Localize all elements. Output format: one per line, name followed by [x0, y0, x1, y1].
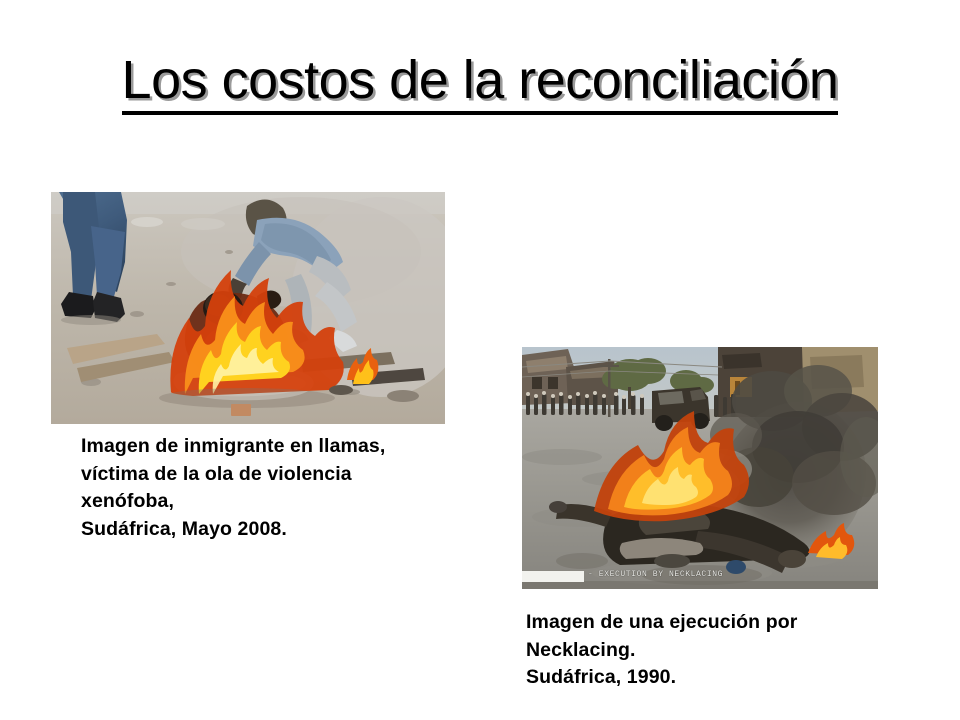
- page-title: Los costos de la reconciliación: [122, 52, 839, 115]
- photo-left-graphic: [51, 192, 445, 424]
- photo-right-caption: Imagen de una ejecución por Necklacing. …: [526, 609, 926, 692]
- photo-immigrant-burning: [51, 192, 445, 424]
- photo-left-caption: Imagen de inmigrante en llamas, víctima …: [81, 433, 481, 543]
- title-container: Los costos de la reconciliación: [0, 52, 960, 115]
- presentation-slide: Los costos de la reconciliación: [0, 0, 960, 720]
- photo-right-graphic: [522, 347, 878, 589]
- photo-necklacing-execution: - EXECUTION BY NECKLACING: [522, 347, 878, 589]
